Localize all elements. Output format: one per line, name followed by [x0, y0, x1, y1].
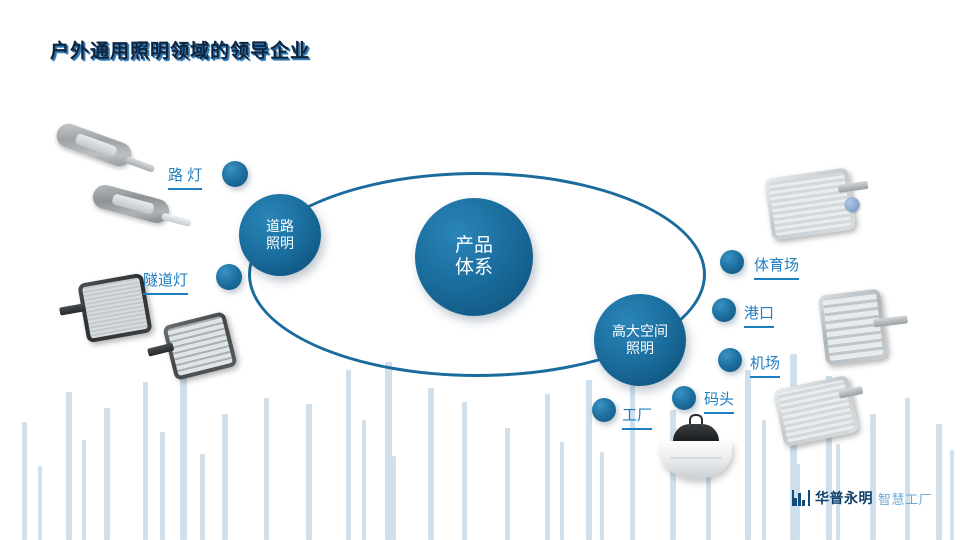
node-road-lighting[interactable]: 道路 照明 — [239, 194, 321, 276]
bullet-dot-factory — [592, 398, 616, 422]
decorative-bar — [630, 374, 635, 540]
decorative-bar — [22, 422, 27, 540]
decorative-bar — [745, 370, 751, 540]
decorative-bar — [160, 432, 165, 540]
decorative-bar — [630, 448, 635, 540]
decorative-bar — [560, 442, 564, 540]
page-title: 户外通用照明领域的领导企业 — [50, 36, 310, 63]
flood-light-product-image — [773, 375, 859, 448]
label-dock[interactable]: 码头 — [704, 388, 734, 414]
node-center-line2: 体系 — [455, 257, 493, 279]
decorative-bar — [545, 394, 550, 540]
bullet-dot-airport — [718, 348, 742, 372]
decorative-bar — [905, 398, 910, 540]
decorative-bar — [385, 362, 392, 540]
decorative-bar — [66, 392, 72, 540]
logo-sub-text: 智慧工厂 — [878, 489, 932, 508]
flood-light-product-image — [764, 167, 856, 240]
decorative-bar — [462, 468, 467, 540]
bullet-dot-tunnel-lamp — [216, 264, 242, 290]
decorative-bar — [200, 454, 205, 540]
tunnel-light-product-image — [162, 311, 238, 381]
decorative-bar — [762, 420, 766, 540]
node-space-line1: 高大空间 — [612, 323, 668, 340]
label-airport[interactable]: 机场 — [750, 352, 780, 378]
decorative-bar — [143, 448, 148, 540]
node-product-system[interactable]: 产品 体系 — [415, 198, 533, 316]
decorative-bar — [264, 398, 269, 540]
node-large-space-lighting[interactable]: 高大空间 照明 — [594, 294, 686, 386]
decorative-bar — [936, 424, 942, 540]
decorative-bar — [600, 452, 604, 540]
logo-brand-text: 华普永明 — [815, 488, 873, 508]
decorative-bar — [306, 404, 312, 540]
tunnel-light-product-image — [77, 273, 152, 344]
decorative-bar — [104, 408, 110, 540]
label-tunnel-lamp[interactable]: 隧道灯 — [143, 269, 188, 295]
bullet-dot-stadium — [720, 250, 744, 274]
decorative-bar — [462, 402, 467, 540]
decorative-bar — [392, 456, 396, 540]
label-stadium[interactable]: 体育场 — [754, 254, 799, 280]
node-road-line2: 照明 — [266, 235, 294, 252]
decorative-bar — [82, 440, 86, 540]
bullet-dot-street-lamp — [222, 161, 248, 187]
decorative-bar — [346, 444, 351, 540]
node-road-line1: 道路 — [266, 218, 294, 235]
decorative-bar — [428, 388, 434, 540]
bullet-dot-port — [712, 298, 736, 322]
decorative-bar — [222, 414, 228, 540]
street-light-product-image — [90, 182, 172, 225]
decorative-bar — [346, 370, 351, 540]
decorative-bar — [745, 480, 751, 540]
decorative-bar — [200, 496, 205, 540]
bullet-dot-dock — [672, 386, 696, 410]
decorative-bar — [950, 450, 954, 540]
decorative-bar — [38, 474, 42, 540]
decorative-bar — [586, 380, 592, 540]
slide-canvas: 户外通用照明领域的领导企业 — [0, 0, 960, 540]
node-space-line2: 照明 — [612, 340, 668, 357]
decorative-bar — [362, 420, 366, 540]
decorative-bar — [38, 466, 42, 496]
decorative-bar — [143, 382, 148, 540]
decorative-bar — [790, 354, 797, 540]
decorative-bar — [264, 462, 269, 540]
decorative-bar — [505, 428, 510, 540]
decorative-bar — [545, 460, 550, 540]
node-center-line1: 产品 — [455, 235, 493, 257]
label-street-lamp[interactable]: 路 灯 — [168, 164, 202, 190]
logo-mark-icon — [792, 490, 810, 506]
flood-light-product-image — [818, 288, 888, 365]
label-factory[interactable]: 工厂 — [622, 404, 652, 430]
label-port[interactable]: 港口 — [744, 302, 774, 328]
street-light-product-image — [53, 120, 135, 169]
decorative-bar — [180, 378, 187, 540]
high-bay-light-product-image — [660, 414, 732, 479]
company-logo: 华普永明 智慧工厂 — [792, 488, 932, 508]
decorative-bar — [870, 414, 876, 540]
